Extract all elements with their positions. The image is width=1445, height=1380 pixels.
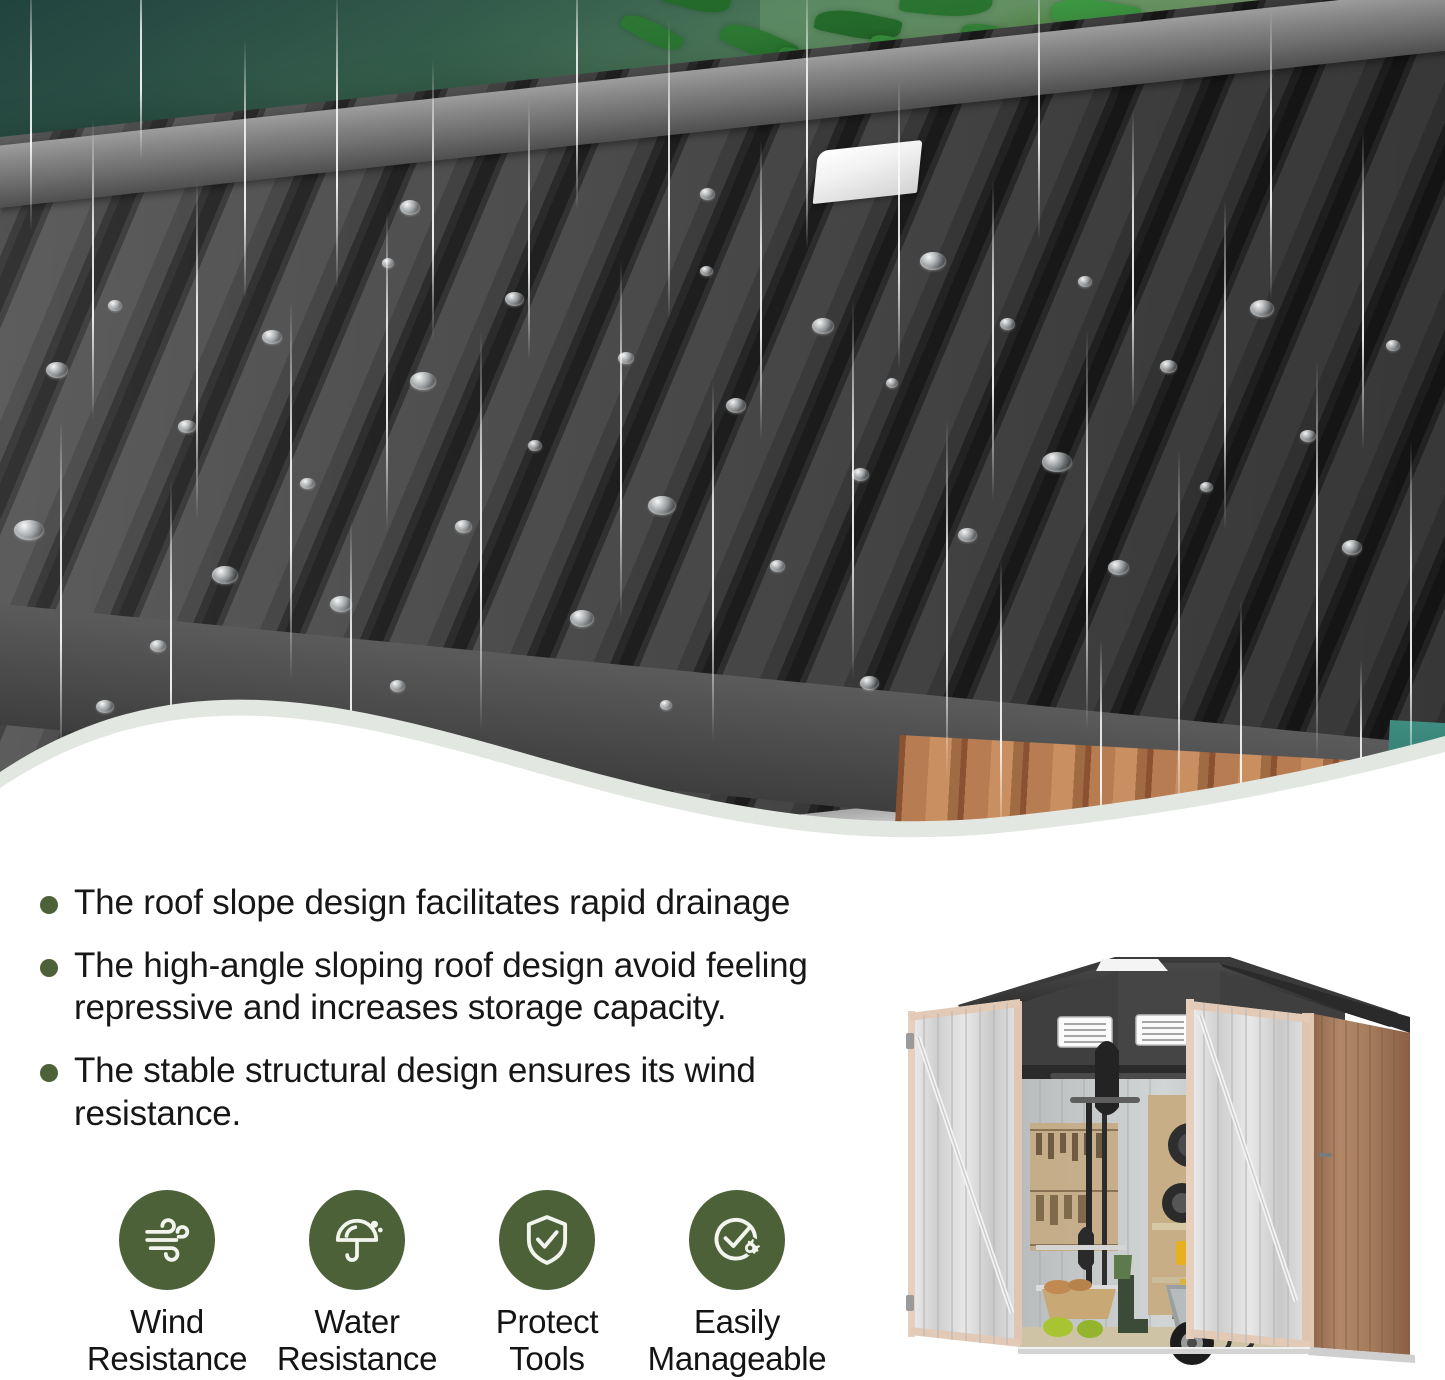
bullet-text: The high-angle sloping roof design avoid… [74,945,930,1030]
feature-label: Wind Resistance [87,1304,247,1378]
shed-product-photo [890,955,1445,1380]
bullet-text: The stable structural design ensures its… [74,1050,930,1135]
rain-on-roof-photo [0,0,1445,880]
feature-label: Easily Manageable [648,1304,827,1378]
feature-bullet-list: The roof slope design facilitates rapid … [40,882,930,1155]
feature-label: Protect Tools [496,1304,598,1378]
feature-easily-manageable: Easily Manageable [642,1190,832,1378]
feature-water-resistance: Water Resistance [262,1190,452,1378]
wave-divider [0,620,1445,880]
bullet-text: The roof slope design facilitates rapid … [74,882,790,925]
check-gear-icon [708,1211,766,1269]
feature-label: Water Resistance [277,1304,437,1378]
product-infographic-page: The roof slope design facilitates rapid … [0,0,1445,1380]
feature-protect-tools: Protect Tools [452,1190,642,1378]
wind-icon [139,1212,195,1268]
bullet-dot-icon [40,1064,58,1082]
wind-icon-badge [119,1190,215,1290]
umbrella-rain-icon [329,1212,385,1268]
feature-icon-row: Wind Resistance Water Resistance [72,1190,832,1378]
bullet-dot-icon [40,959,58,977]
shed-door-right [1186,999,1310,1349]
check-gear-icon-badge [689,1190,785,1290]
shield-check-icon-badge [499,1190,595,1290]
roof-vent [1136,1015,1190,1045]
list-item: The stable structural design ensures its… [40,1050,930,1135]
bullet-dot-icon [40,896,58,914]
shed-door-left [906,999,1022,1347]
shield-check-icon [518,1211,576,1269]
list-item: The roof slope design facilitates rapid … [40,882,930,925]
list-item: The high-angle sloping roof design avoid… [40,945,930,1030]
umbrella-rain-icon-badge [309,1190,405,1290]
feature-wind-resistance: Wind Resistance [72,1190,262,1378]
content-section: The roof slope design facilitates rapid … [0,860,1445,1380]
